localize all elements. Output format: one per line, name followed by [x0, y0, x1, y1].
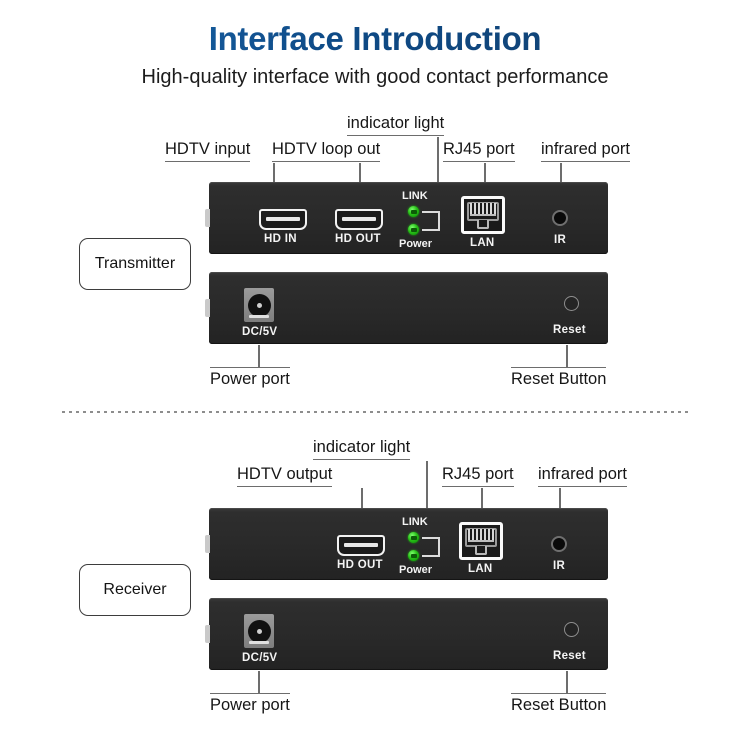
led-power-indicator: [408, 224, 419, 235]
callout-reset-button: Reset Button: [511, 367, 606, 389]
section-divider: [62, 411, 690, 413]
dc-slot: [249, 641, 269, 644]
transmitter-back-panel: DC/5V Reset: [209, 272, 608, 344]
interface-introduction-page: Interface Introduction High-quality inte…: [0, 0, 750, 750]
device-name-label: Receiver: [103, 581, 166, 599]
led-bracket-vertical: [438, 537, 440, 557]
rj45-pins: [468, 529, 494, 542]
dc-power-jack[interactable]: [244, 614, 274, 648]
hdmi-in-caption: HD IN: [264, 233, 297, 245]
receiver-front-panel: HD OUT LINK Power LAN IR: [209, 508, 608, 580]
hdmi-in-port[interactable]: [259, 209, 307, 230]
dc-barrel: [248, 620, 271, 643]
led-link-caption: LINK: [402, 190, 428, 202]
receiver-back-panel: DC/5V Reset: [209, 598, 608, 670]
dc-barrel: [248, 294, 271, 317]
callout-indicator-light-receiver: indicator light: [313, 438, 410, 460]
callout-reset-button-receiver: Reset Button: [511, 693, 606, 715]
ir-caption: IR: [553, 560, 565, 572]
led-power-indicator: [408, 550, 419, 561]
device-name-box-transmitter: Transmitter: [79, 238, 191, 290]
callout-infrared-port: infrared port: [541, 140, 630, 162]
dc-power-jack[interactable]: [244, 288, 274, 322]
rj45-notch: [475, 546, 487, 555]
hdmi-out-caption: HD OUT: [337, 559, 383, 571]
callout-power-port-receiver: Power port: [210, 693, 290, 715]
lan-caption: LAN: [468, 563, 493, 575]
callout-hdtv-loop-out: HDTV loop out: [272, 140, 380, 162]
hdmi-out-port[interactable]: [337, 535, 385, 556]
led-link-indicator: [408, 532, 419, 543]
rj45-lan-port[interactable]: [459, 522, 503, 560]
callout-rj45-port-receiver: RJ45 port: [442, 465, 514, 487]
led-link-indicator: [408, 206, 419, 217]
page-title: Interface Introduction: [0, 20, 750, 58]
callout-hdtv-input: HDTV input: [165, 140, 250, 162]
rj45-notch: [477, 220, 489, 229]
reset-caption: Reset: [553, 650, 586, 662]
callout-rj45-port: RJ45 port: [443, 140, 515, 162]
rj45-pins: [470, 203, 496, 216]
reset-caption: Reset: [553, 324, 586, 336]
dc-slot: [249, 315, 269, 318]
callout-indicator-light: indicator light: [347, 114, 444, 136]
leader-power-port: [258, 345, 260, 367]
leader-reset-button-receiver: [566, 671, 568, 693]
reset-button[interactable]: [564, 296, 579, 311]
dc-caption: DC/5V: [242, 652, 277, 664]
dc-caption: DC/5V: [242, 326, 277, 338]
leader-power-port-receiver: [258, 671, 260, 693]
led-link-caption: LINK: [402, 516, 428, 528]
ir-caption: IR: [554, 234, 566, 246]
rj45-lan-port[interactable]: [461, 196, 505, 234]
lan-caption: LAN: [470, 237, 495, 249]
ir-port[interactable]: [551, 536, 567, 552]
led-bracket-vertical: [438, 211, 440, 231]
leader-indicator-light-receiver: [426, 461, 428, 513]
hdmi-out-caption: HD OUT: [335, 233, 381, 245]
callout-power-port: Power port: [210, 367, 290, 389]
leader-reset-button: [566, 345, 568, 367]
transmitter-front-panel: HD IN HD OUT LINK Power LAN IR: [209, 182, 608, 254]
led-power-caption: Power: [399, 238, 432, 250]
device-name-box-receiver: Receiver: [79, 564, 191, 616]
reset-button[interactable]: [564, 622, 579, 637]
device-name-label: Transmitter: [95, 255, 175, 273]
callout-hdtv-output: HDTV output: [237, 465, 332, 487]
ir-port[interactable]: [552, 210, 568, 226]
page-subtitle: High-quality interface with good contact…: [0, 66, 750, 89]
led-power-caption: Power: [399, 564, 432, 576]
callout-infrared-port-receiver: infrared port: [538, 465, 627, 487]
hdmi-out-port[interactable]: [335, 209, 383, 230]
